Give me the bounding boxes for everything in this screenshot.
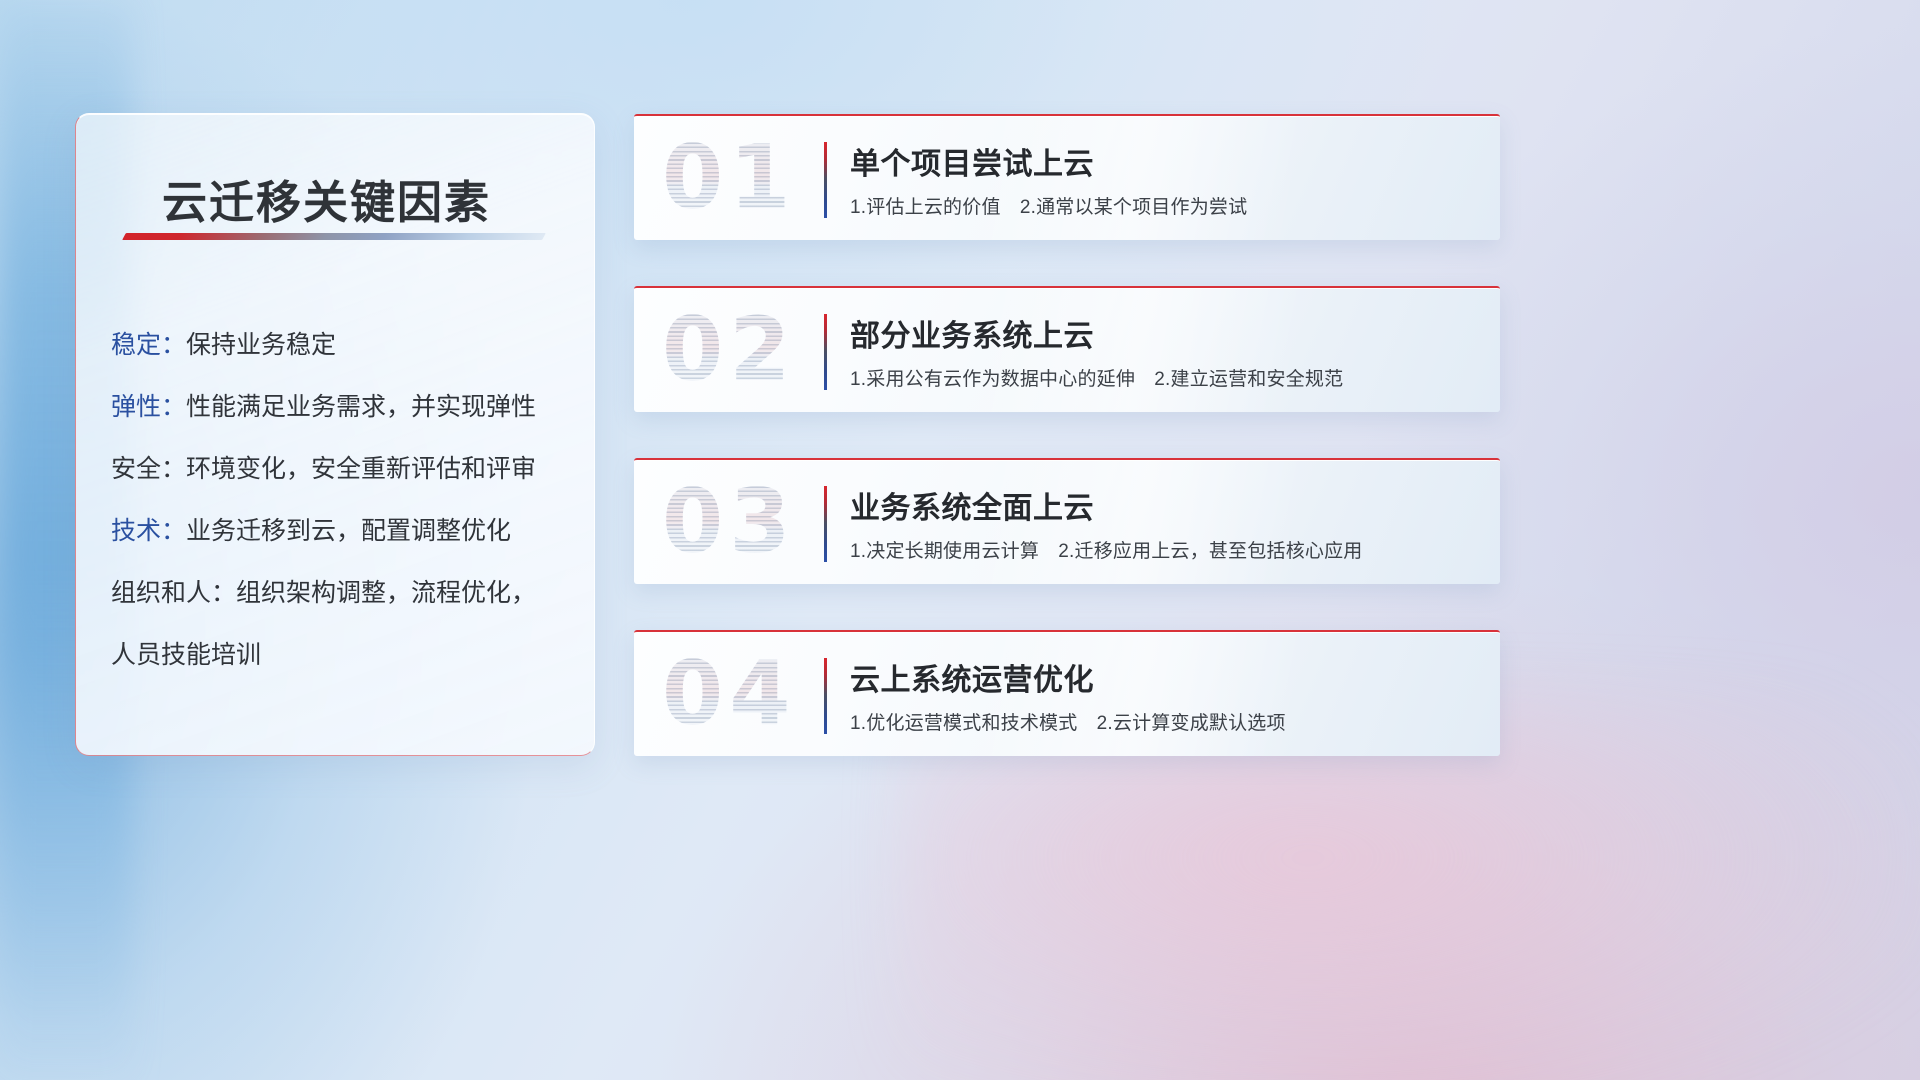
factor-text: 组织架构调整，流程优化， (236, 579, 536, 607)
factor-text: 保持业务稳定 (186, 331, 336, 359)
step-title: 部分业务系统上云 (850, 311, 1094, 355)
step-title: 业务系统全面上云 (850, 483, 1094, 527)
factor-item-continuation: 人员技能培训 (111, 643, 261, 668)
factor-label: 技术： (111, 517, 186, 545)
step-divider (824, 658, 827, 734)
slide-canvas: 云迁移关键因素 稳定：保持业务稳定 弹性：性能满足业务需求，并实现弹性 安全：环… (0, 0, 1920, 1080)
factor-label: 稳定： (111, 331, 186, 359)
factor-label: 弹性： (111, 393, 186, 421)
step-number-tint-03: 03 (662, 478, 796, 566)
step-divider (824, 486, 827, 562)
key-factors-panel: 云迁移关键因素 稳定：保持业务稳定 弹性：性能满足业务需求，并实现弹性 安全：环… (75, 113, 595, 756)
step-card-01[interactable]: 01 01 单个项目尝试上云 1.评估上云的价值 2.通常以某个项目作为尝试 (634, 114, 1500, 240)
step-divider (824, 314, 827, 390)
factor-label: 安全： (111, 455, 186, 483)
step-card-03[interactable]: 03 03 业务系统全面上云 1.决定长期使用云计算 2.迁移应用上云，甚至包括… (634, 458, 1500, 584)
step-title: 云上系统运营优化 (850, 655, 1094, 699)
step-description: 1.评估上云的价值 2.通常以某个项目作为尝试 (850, 192, 1247, 219)
factor-label: 组织和人： (111, 579, 236, 607)
step-number-tint-04: 04 (662, 650, 796, 738)
factor-item: 组织和人：组织架构调整，流程优化， (111, 581, 536, 606)
page-title: 云迁移关键因素 (162, 166, 491, 231)
step-title: 单个项目尝试上云 (850, 139, 1094, 183)
step-number-tint-01: 01 (662, 134, 796, 222)
step-number-tint-02: 02 (662, 306, 796, 394)
factor-text: 人员技能培训 (111, 641, 261, 669)
step-card-02[interactable]: 02 02 部分业务系统上云 1.采用公有云作为数据中心的延伸 2.建立运营和安… (634, 286, 1500, 412)
title-underline-rule (122, 233, 546, 240)
factor-item: 技术：业务迁移到云，配置调整优化 (111, 519, 511, 544)
step-description: 1.决定长期使用云计算 2.迁移应用上云，甚至包括核心应用 (850, 536, 1363, 563)
factor-item: 安全：环境变化，安全重新评估和评审 (111, 457, 536, 482)
factor-text: 环境变化，安全重新评估和评审 (186, 455, 536, 483)
factor-item: 弹性：性能满足业务需求，并实现弹性 (111, 395, 536, 420)
factor-item: 稳定：保持业务稳定 (111, 333, 336, 358)
step-description: 1.优化运营模式和技术模式 2.云计算变成默认选项 (850, 708, 1286, 735)
factor-text: 性能满足业务需求，并实现弹性 (186, 393, 536, 421)
step-description: 1.采用公有云作为数据中心的延伸 2.建立运营和安全规范 (850, 364, 1343, 391)
step-card-04[interactable]: 04 04 云上系统运营优化 1.优化运营模式和技术模式 2.云计算变成默认选项 (634, 630, 1500, 756)
factor-text: 业务迁移到云，配置调整优化 (186, 517, 511, 545)
step-divider (824, 142, 827, 218)
